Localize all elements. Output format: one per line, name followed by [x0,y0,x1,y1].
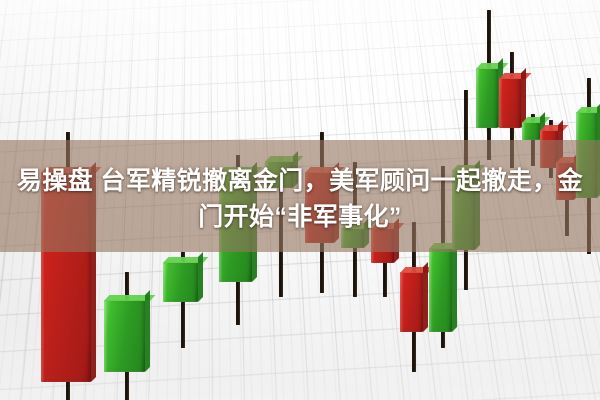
candle-3-side-face [198,252,203,302]
candle-14-body [522,122,540,140]
candle-3-body [163,262,198,302]
candle-2-side-face [145,290,150,372]
headline-text: 易操盘 台军精锐撤离金门，美军顾问一起撤走，金门开始“非军事化” [0,164,600,235]
candle-13-body [499,78,521,128]
candle-9-body [400,272,423,332]
candlestick-banner: 易操盘 台军精锐撤离金门，美军顾问一起撤走，金门开始“非军事化” [0,0,600,400]
candle-12-body [476,68,498,128]
candle-9-side-face [423,262,428,332]
candle-10-body [429,248,452,332]
candle-2-body [104,300,145,372]
